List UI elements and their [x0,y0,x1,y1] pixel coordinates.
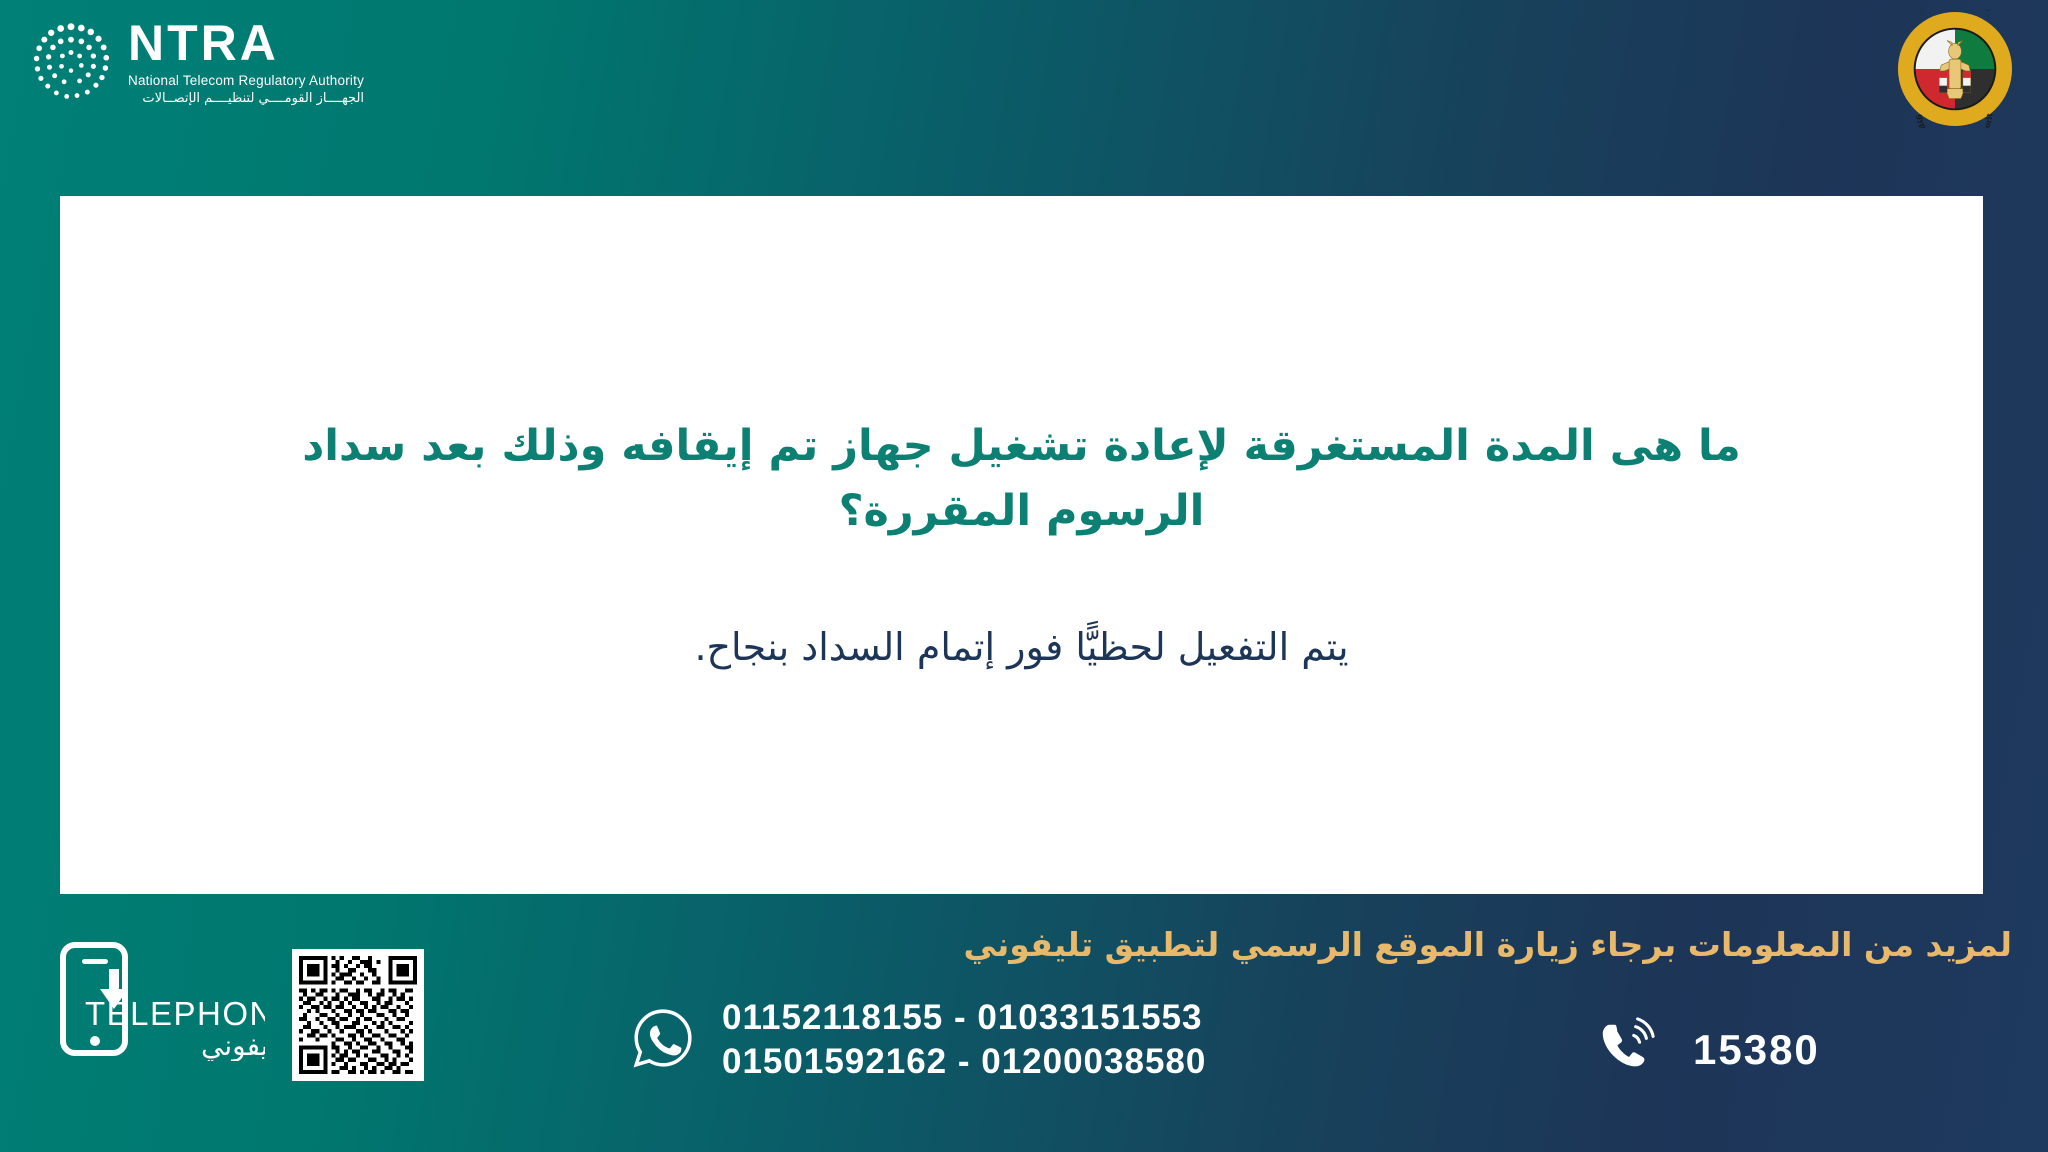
whatsapp-number-line-2: 01501592162 - 01200038580 [722,1042,1206,1082]
telephony-logo: TELEPHONY تليفوني [55,933,265,1061]
footer-heading: لمزيد من المعلومات برجاء زيارة الموقع ال… [964,925,2012,964]
answer-text: يتم التفعيل لحظيًّا فور إتمام السداد بنج… [694,619,1348,676]
svg-text:تليفوني: تليفوني [201,1029,265,1061]
ntra-dotted-circle-logo-icon [28,19,114,105]
infographic-poster: NTRA National Telecom Regulatory Authori… [0,0,2048,1152]
question-text: ما هى المدة المستغرقة لإعادة تشغيل جهاز … [242,414,1802,543]
ntra-wordmark: NTRA National Telecom Regulatory Authori… [128,18,364,106]
ntra-acronym: NTRA [128,18,364,68]
whatsapp-icon[interactable] [630,1005,696,1075]
hotline-block: 15380 [1595,1017,1820,1083]
svg-text:TELEPHONY: TELEPHONY [85,995,265,1032]
whatsapp-numbers: 01152118155 - 01033151553 01501592162 - … [722,998,1206,1082]
ntra-subtitle-en: National Telecom Regulatory Authority [128,73,364,88]
phone-download-icon: TELEPHONY تليفوني [55,933,265,1061]
qr-code-icon[interactable] [292,949,424,1081]
hotline-number: 15380 [1693,1026,1820,1074]
whatsapp-number-line-1: 01152118155 - 01033151553 [722,998,1206,1038]
ntra-subtitle-ar: الجهــــاز القومــــي لتنظيــــم الإتصــ… [128,91,364,106]
ntra-logo: NTRA National Telecom Regulatory Authori… [28,18,364,106]
whatsapp-contact-block: 01152118155 - 01033151553 01501592162 - … [630,998,1206,1082]
eagle-emblem-icon: الجمارك المصرية Egyptian Customs Authori… [1896,10,2014,128]
content-card: ما هى المدة المستغرقة لإعادة تشغيل جهاز … [60,196,1983,894]
footer: TELEPHONY تليفوني [0,905,2048,1152]
header: NTRA National Telecom Regulatory Authori… [0,0,2048,140]
phone-ringing-icon[interactable] [1595,1017,1657,1083]
